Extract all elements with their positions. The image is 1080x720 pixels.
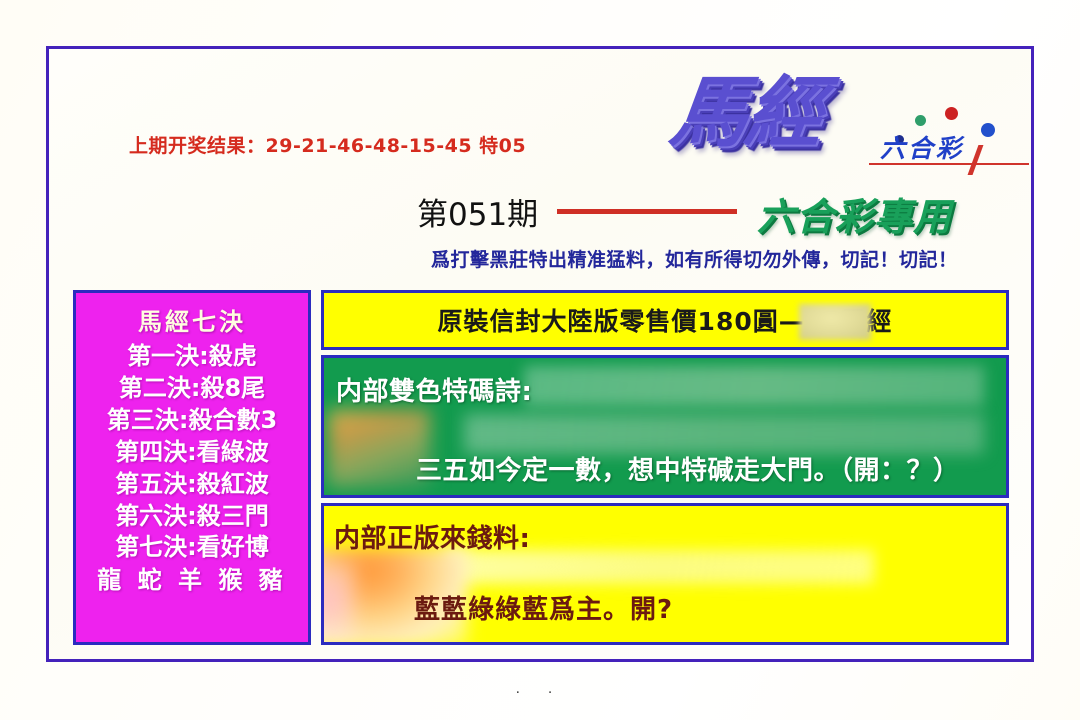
- issue-number: 第051期: [417, 189, 538, 234]
- green-panel-poem: 三五如今定一數，想中特碱走大門。（開：？）: [416, 450, 960, 487]
- logo-underline-rule: [869, 163, 1029, 165]
- sidebar-seven-tips: 馬經七決 第一決:殺虎 第二決:殺8尾 第三決:殺合數3 第四決:看綠波 第五決…: [73, 290, 311, 645]
- price-banner-panel: 原裝信封大陸版零售價180圓—— 馬經: [321, 290, 1009, 350]
- ball-green-icon: [915, 115, 926, 126]
- redaction-blob-green: [328, 410, 430, 488]
- ball-red-icon: [945, 107, 958, 120]
- content-area: 馬經七決 第一決:殺虎 第二決:殺8尾 第三決:殺合數3 第四決:看綠波 第五決…: [73, 290, 1009, 645]
- sidebar-item-2: 第二決:殺8尾: [119, 373, 265, 405]
- green-poem-panel: 内部雙色特碼詩: 三五如今定一數，想中特碱走大門。（開：？）: [321, 355, 1009, 498]
- redaction-mask-banner: [799, 304, 871, 340]
- header-area: 上期开奖结果：29-21-46-48-15-45 特05 馬經 六合彩 第051…: [49, 49, 1031, 287]
- redaction-glow-pink: [321, 564, 354, 644]
- ball-blue-icon: [981, 123, 995, 137]
- yellow-panel-label: 内部正版來錢料:: [334, 518, 530, 555]
- sidebar-item-4: 第四決:看綠波: [115, 437, 269, 469]
- logo-sub-group: 六合彩: [877, 101, 1027, 171]
- logo-title: 馬經: [666, 75, 825, 152]
- redaction-mask-green-mid: [464, 414, 984, 454]
- redaction-mask-yellow: [444, 550, 874, 584]
- sidebar-item-6: 第六決:殺三門: [115, 501, 269, 533]
- sidebar-item-5: 第五決:殺紅波: [115, 469, 269, 501]
- issue-tagline: 六合彩專用: [757, 186, 952, 241]
- last-draw-result: 上期开奖结果：29-21-46-48-15-45 特05: [129, 131, 526, 158]
- issue-rule-line: [557, 209, 737, 214]
- sidebar-item-3: 第三決:殺合數3: [107, 405, 277, 437]
- masthead-logo: 馬經 六合彩: [609, 71, 1029, 181]
- issue-row: 第051期 六合彩專用: [417, 189, 1037, 235]
- logo-slash-mark: [968, 145, 984, 175]
- sidebar-item-1: 第一決:殺虎: [127, 341, 257, 373]
- sidebar-item-7: 第七決:看好博: [115, 532, 269, 564]
- redaction-mask-green-top: [524, 366, 984, 406]
- right-column: 原裝信封大陸版零售價180圓—— 馬經 内部雙色特碼詩: 三五如今定一數，想中特…: [321, 290, 1009, 645]
- sidebar-title: 馬經七決: [138, 302, 246, 337]
- green-panel-label: 内部雙色特碼詩:: [336, 371, 532, 408]
- sidebar-zodiac-list: 龍 蛇 羊 猴 豬: [97, 565, 286, 597]
- notice-text: 爲打擊黑莊特出精准猛料，如有所得切勿外傳，切記！切記！: [431, 245, 958, 272]
- logo-subtitle: 六合彩: [880, 129, 964, 165]
- yellow-panel-text: 藍藍綠綠藍爲主。開?: [414, 589, 673, 626]
- poster-page: 上期开奖结果：29-21-46-48-15-45 特05 馬經 六合彩 第051…: [0, 0, 1080, 720]
- footer-dots: . .: [0, 682, 1080, 697]
- yellow-tip-panel: 内部正版來錢料: 藍藍綠綠藍爲主。開?: [321, 503, 1009, 645]
